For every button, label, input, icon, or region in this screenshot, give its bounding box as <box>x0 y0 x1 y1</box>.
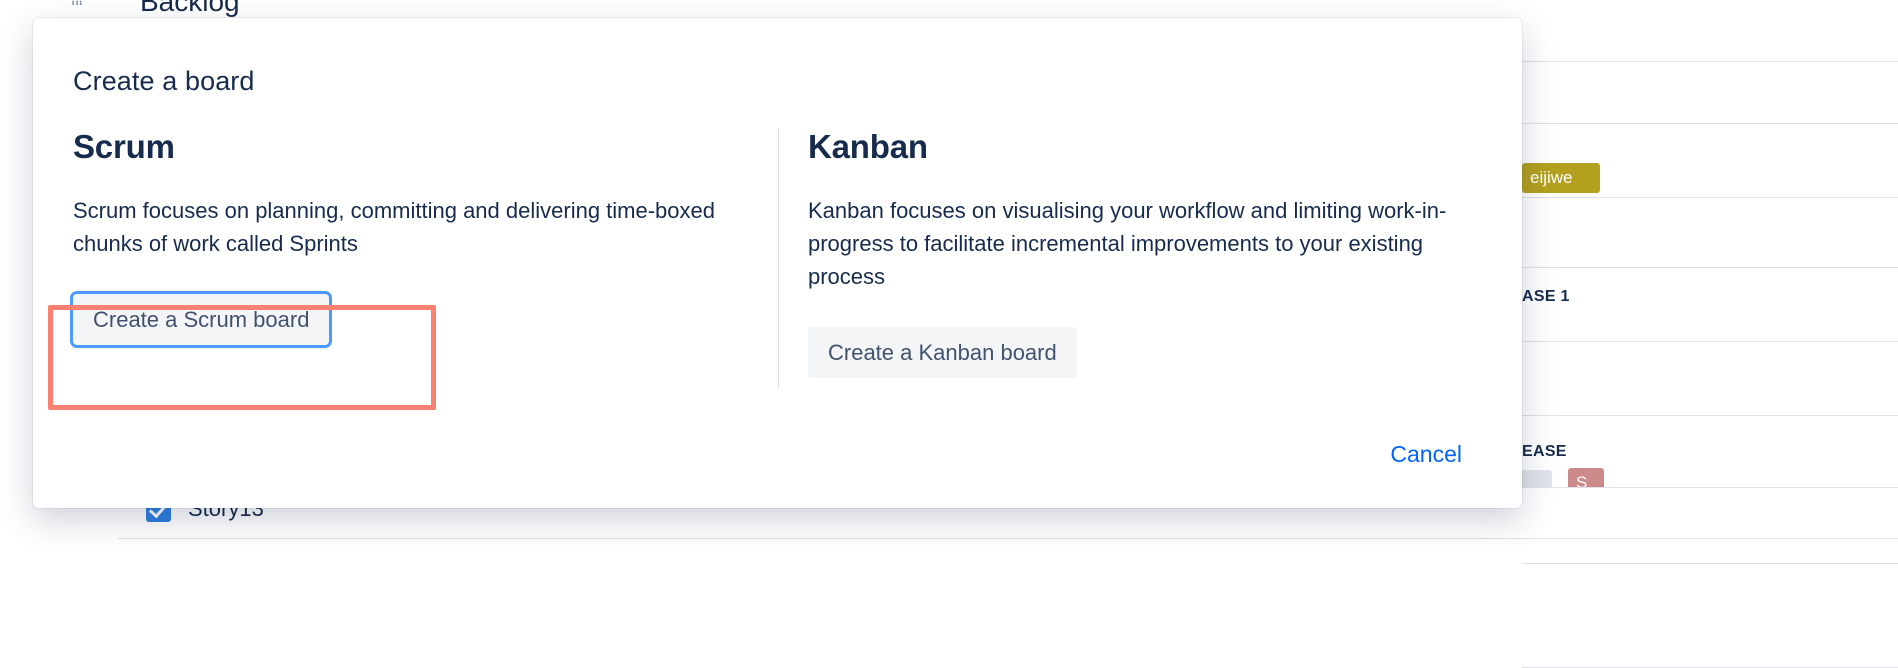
cancel-button[interactable]: Cancel <box>1390 441 1462 468</box>
board-type-options: Scrum Scrum focuses on planning, committ… <box>33 128 1522 408</box>
scrum-heading: Scrum <box>73 128 773 166</box>
board-option-scrum: Scrum Scrum focuses on planning, committ… <box>73 128 773 398</box>
create-kanban-board-button[interactable]: Create a Kanban board <box>808 327 1077 378</box>
column-divider <box>778 128 779 388</box>
create-scrum-board-button[interactable]: Create a Scrum board <box>73 294 329 345</box>
screen: ⫶⫶ Backlog Create eijiwe ASE 1 S EASE St… <box>0 0 1898 668</box>
create-board-dialog: Create a board Scrum Scrum focuses on pl… <box>33 18 1522 508</box>
kanban-description: Kanban focuses on visualising your workf… <box>808 194 1468 293</box>
board-option-kanban: Kanban Kanban focuses on visualising you… <box>808 128 1488 398</box>
kanban-heading: Kanban <box>808 128 1488 166</box>
scrum-description: Scrum focuses on planning, committing an… <box>73 194 733 260</box>
dialog-title: Create a board <box>73 66 255 97</box>
